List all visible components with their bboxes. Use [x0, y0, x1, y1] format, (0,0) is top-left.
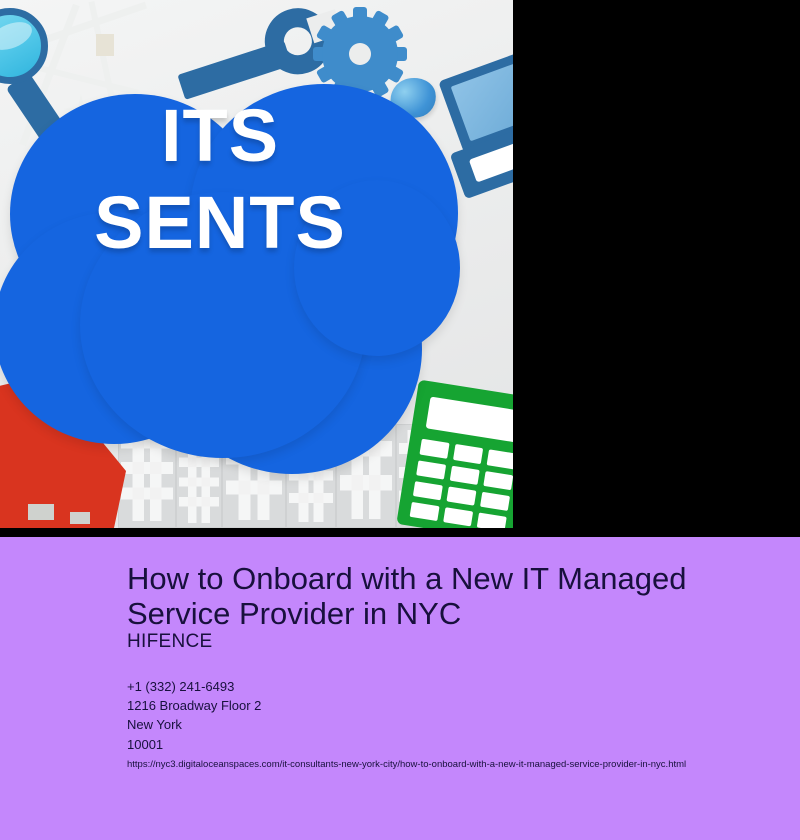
cloud-text-line-2: SENTS — [0, 179, 440, 266]
page-root: ITS SENTS How to Onboard with a New IT M… — [0, 0, 800, 840]
hero-image: ITS SENTS — [0, 0, 513, 528]
contact-zip: 10001 — [127, 735, 261, 754]
magnifier-glint — [0, 17, 36, 56]
brand-name: HIFENCE — [127, 631, 213, 653]
contact-street: 1216 Broadway Floor 2 — [127, 696, 261, 715]
contact-block: +1 (332) 241-6493 1216 Broadway Floor 2 … — [127, 677, 261, 754]
contact-city: New York — [127, 715, 261, 734]
gear-hole — [349, 43, 371, 65]
map-patch — [28, 504, 54, 520]
gear-icon — [322, 16, 398, 92]
map-patch — [70, 512, 90, 524]
page-title: How to Onboard with a New IT Managed Ser… — [127, 562, 747, 631]
cloud-text-line-1: ITS — [0, 92, 440, 179]
source-url[interactable]: https://nyc3.digitaloceanspaces.com/it-c… — [127, 759, 686, 770]
cloud-text: ITS SENTS — [0, 92, 440, 267]
map-patch — [96, 34, 114, 56]
magnifier-lens — [0, 8, 48, 84]
content-panel: How to Onboard with a New IT Managed Ser… — [0, 537, 800, 840]
laptop-trackpad — [469, 139, 513, 182]
contact-phone: +1 (332) 241-6493 — [127, 677, 261, 696]
